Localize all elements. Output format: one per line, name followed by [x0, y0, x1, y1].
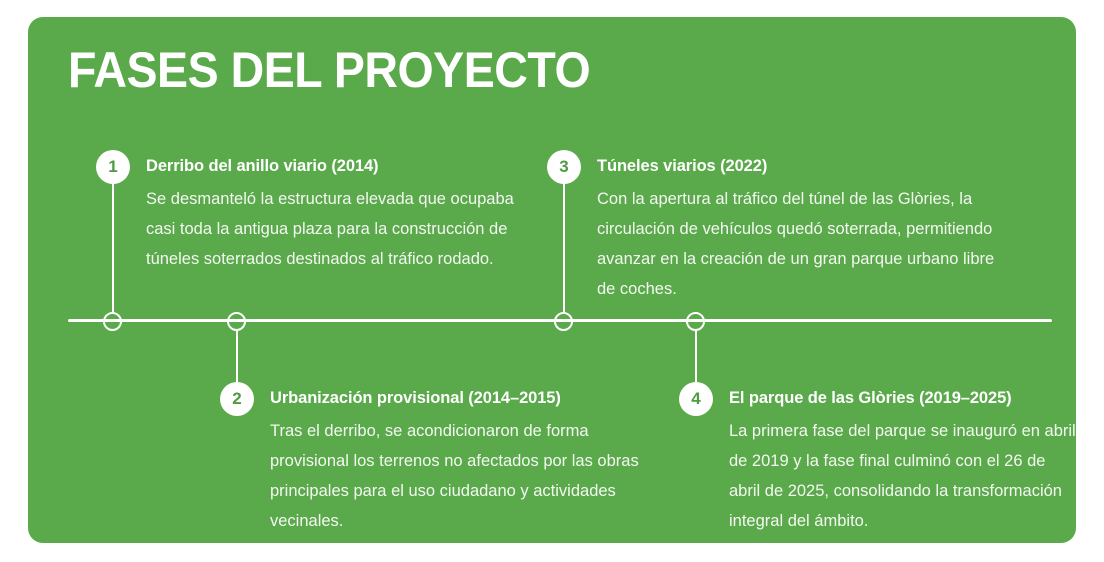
phase-block-2: 2 Urbanización provisional (2014–2015) T… [220, 382, 640, 536]
phase-body-3: Con la apertura al tráfico del túnel de … [547, 184, 1017, 304]
phase-badge-3: 3 [547, 150, 581, 184]
infographic-root: FASES DEL PROYECTO 1 Derribo del anillo … [0, 0, 1104, 562]
phase-block-3: 3 Túneles viarios (2022) Con la apertura… [547, 150, 1017, 304]
phase-body-2: Tras el derribo, se acondicionaron de fo… [220, 416, 640, 536]
timeline-node-2 [227, 312, 246, 331]
phase-title-2: Urbanización provisional (2014–2015) [270, 387, 561, 409]
phase-header-2: 2 Urbanización provisional (2014–2015) [220, 382, 640, 416]
phase-body-4: La primera fase del parque se inauguró e… [679, 416, 1079, 536]
phase-badge-4: 4 [679, 382, 713, 416]
phase-title-4: El parque de las Glòries (2019–2025) [729, 387, 1012, 409]
phase-block-1: 1 Derribo del anillo viario (2014) Se de… [96, 150, 516, 274]
timeline-node-3 [554, 312, 573, 331]
timeline-node-4 [686, 312, 705, 331]
timeline-node-1 [103, 312, 122, 331]
phase-body-1: Se desmanteló la estructura elevada que … [96, 184, 516, 274]
phase-header-1: 1 Derribo del anillo viario (2014) [96, 150, 516, 184]
phase-badge-1: 1 [96, 150, 130, 184]
phase-badge-2: 2 [220, 382, 254, 416]
phase-header-4: 4 El parque de las Glòries (2019–2025) [679, 382, 1079, 416]
timeline-card: FASES DEL PROYECTO 1 Derribo del anillo … [28, 17, 1076, 543]
phase-title-1: Derribo del anillo viario (2014) [146, 155, 378, 177]
page-title: FASES DEL PROYECTO [68, 43, 590, 97]
phase-block-4: 4 El parque de las Glòries (2019–2025) L… [679, 382, 1079, 536]
phase-title-3: Túneles viarios (2022) [597, 155, 767, 177]
phase-header-3: 3 Túneles viarios (2022) [547, 150, 1017, 184]
